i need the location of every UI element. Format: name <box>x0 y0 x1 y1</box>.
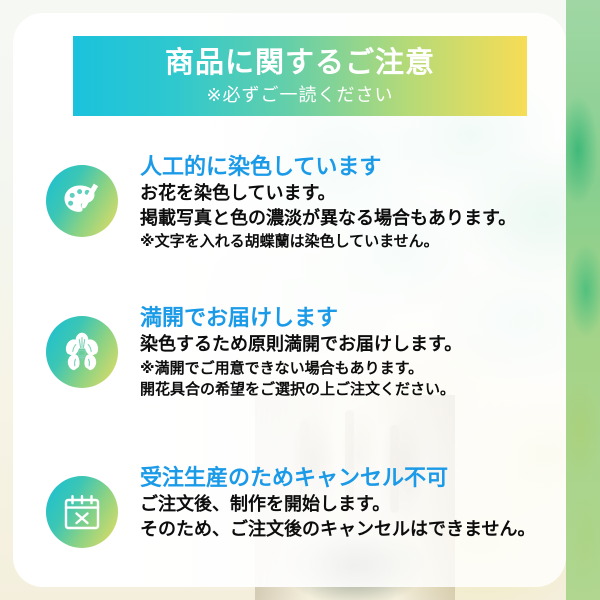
orchid-flower-icon <box>46 316 118 388</box>
section-heading: 受注生産のためキャンセル不可 <box>140 466 535 493</box>
photo-right-edge-strip <box>566 0 600 600</box>
calendar-cancel-icon <box>46 476 118 548</box>
section-line: お花を染色しています。 <box>140 182 516 207</box>
page-title: 商品に関するご注意 <box>165 47 435 79</box>
notice-section-no-cancel: 受注生産のためキャンセル不可 ご注文後、制作を開始します。 そのため、ご注文後の… <box>46 466 535 548</box>
page-subtitle: ※必ずご一読ください <box>206 86 393 106</box>
section-text: 満開でお届けします 染色するため原則満開でお届けします。 ※満開でご用意できない… <box>140 306 462 400</box>
notice-graphic: 商品に関するご注意 ※必ずご一読ください 人工的に染色しています お花を染色して… <box>0 0 600 600</box>
header-banner: 商品に関するご注意 ※必ずご一読ください <box>73 36 527 116</box>
section-note: ※文字を入れる胡蝶蘭は染色していません。 <box>140 231 516 252</box>
section-text: 受注生産のためキャンセル不可 ご注文後、制作を開始します。 そのため、ご注文後の… <box>140 466 535 542</box>
section-note: ※満開でご用意できない場合もあります。 <box>140 358 462 379</box>
section-line: ご注文後、制作を開始します。 <box>140 493 535 518</box>
notice-section-full-bloom: 満開でお届けします 染色するため原則満開でお届けします。 ※満開でご用意できない… <box>46 306 462 400</box>
section-text: 人工的に染色しています お花を染色しています。 掲載写真と色の濃淡が異なる場合も… <box>140 155 516 252</box>
palette-brush-icon <box>46 165 118 237</box>
notice-section-dyed: 人工的に染色しています お花を染色しています。 掲載写真と色の濃淡が異なる場合も… <box>46 155 516 252</box>
section-line: 染色するため原則満開でお届けします。 <box>140 333 462 358</box>
section-heading: 人工的に染色しています <box>140 155 516 182</box>
section-note: 開花具合の希望をご選択の上ご注文ください。 <box>140 379 462 400</box>
section-line: そのため、ご注文後のキャンセルはできません。 <box>140 518 535 543</box>
section-heading: 満開でお届けします <box>140 306 462 333</box>
section-line: 掲載写真と色の濃淡が異なる場合もあります。 <box>140 207 516 232</box>
